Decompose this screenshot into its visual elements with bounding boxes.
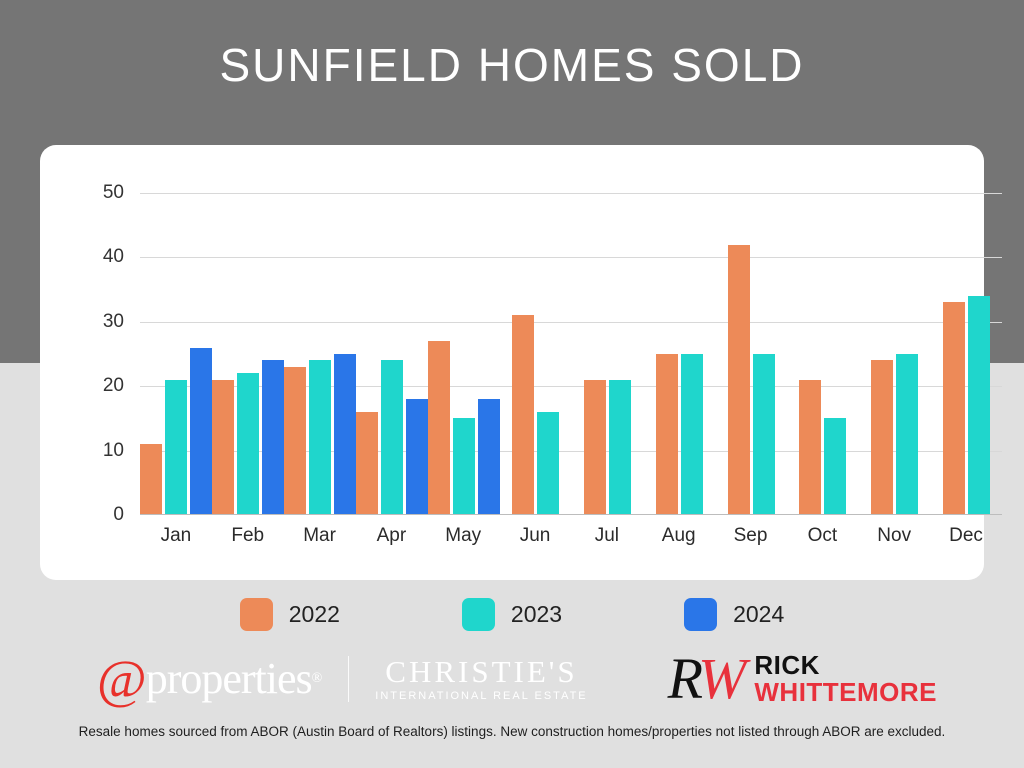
bar[interactable] [356, 412, 378, 515]
legend-item[interactable]: 2023 [462, 598, 562, 631]
infographic-page: SUNFIELD HOMES SOLD 01020304050 JanFebMa… [0, 0, 1024, 768]
bar[interactable] [537, 412, 559, 515]
x-axis-tick-label: Apr [355, 525, 427, 547]
rw-line-whittemore: WHITTEMORE [754, 679, 937, 706]
chart-legend: 202220232024 [0, 598, 1024, 631]
x-axis-tick-label: Sep [715, 525, 787, 547]
bar[interactable] [478, 399, 500, 515]
bar[interactable] [212, 380, 234, 515]
bar[interactable] [237, 373, 259, 515]
chart-card: 01020304050 JanFebMarAprMayJunJulAugSepO… [40, 145, 984, 580]
bar[interactable] [140, 444, 162, 515]
rw-monogram: RW [668, 650, 743, 708]
bar[interactable] [681, 354, 703, 515]
y-axis-tick-label: 20 [80, 375, 140, 397]
bar[interactable] [753, 354, 775, 515]
rw-line-rick: RICK [754, 652, 937, 679]
bar[interactable] [896, 354, 918, 515]
logo-divider [348, 656, 349, 702]
bar[interactable] [453, 418, 475, 515]
x-axis-tick-label: Aug [643, 525, 715, 547]
bar-group [787, 193, 859, 515]
legend-label: 2022 [289, 601, 340, 628]
legend-swatch [240, 598, 273, 631]
x-axis-tick-label: Dec [930, 525, 1002, 547]
bar-group [572, 193, 644, 515]
bar[interactable] [428, 341, 450, 515]
plot-area: 01020304050 [140, 193, 1002, 515]
rick-whittemore-wordmark: RICK WHITTEMORE [754, 652, 937, 705]
x-axis-tick-label: Feb [212, 525, 284, 547]
x-axis-tick-label: Oct [786, 525, 858, 547]
bar-group [715, 193, 787, 515]
bar-group [356, 193, 428, 515]
x-axis-tick-label: May [427, 525, 499, 547]
logo-row: @ properties ® CHRISTIE'S INTERNATIONAL … [0, 648, 1024, 710]
bar[interactable] [656, 354, 678, 515]
bar[interactable] [334, 354, 356, 515]
bar[interactable] [799, 380, 821, 515]
footnote-text: Resale homes sourced from ABOR (Austin B… [62, 723, 962, 741]
bar-group [140, 193, 212, 515]
legend-label: 2023 [511, 601, 562, 628]
x-axis-tick-label: Mar [284, 525, 356, 547]
x-axis-tick-label: Jun [499, 525, 571, 547]
x-axis-line [140, 514, 1002, 515]
x-axis-tick-label: Jan [140, 525, 212, 547]
registered-trademark-icon: ® [312, 671, 323, 687]
bar[interactable] [190, 348, 212, 515]
christies-tagline: INTERNATIONAL REAL ESTATE [375, 690, 587, 702]
bar[interactable] [309, 360, 331, 515]
bar[interactable] [512, 315, 534, 515]
y-axis-tick-label: 10 [80, 440, 140, 462]
y-axis-tick-label: 50 [80, 182, 140, 204]
bar-group [212, 193, 284, 515]
bar-group [500, 193, 572, 515]
christies-logo: CHRISTIE'S INTERNATIONAL REAL ESTATE [375, 656, 587, 703]
legend-swatch [684, 598, 717, 631]
x-axis-tick-labels: JanFebMarAprMayJunJulAugSepOctNovDec [140, 525, 1002, 547]
bar[interactable] [609, 380, 631, 515]
bar[interactable] [584, 380, 606, 515]
christies-wordmark: CHRISTIE'S [385, 656, 577, 689]
bar-group [930, 193, 1002, 515]
atproperties-wordmark: properties [146, 657, 312, 701]
page-title: SUNFIELD HOMES SOLD [0, 38, 1024, 92]
y-axis-tick-label: 0 [80, 504, 140, 526]
monogram-r: R [668, 646, 698, 711]
bar-groups [140, 193, 1002, 515]
bar-group [859, 193, 931, 515]
x-axis-tick-label: Jul [571, 525, 643, 547]
legend-swatch [462, 598, 495, 631]
monogram-w: W [698, 646, 742, 711]
bar[interactable] [262, 360, 284, 515]
bar[interactable] [728, 245, 750, 515]
bar[interactable] [406, 399, 428, 515]
y-axis-tick-label: 30 [80, 311, 140, 333]
legend-item[interactable]: 2024 [684, 598, 784, 631]
legend-label: 2024 [733, 601, 784, 628]
bar[interactable] [165, 380, 187, 515]
at-symbol-icon: @ [97, 652, 145, 706]
bar[interactable] [381, 360, 403, 515]
x-axis-tick-label: Nov [858, 525, 930, 547]
bar[interactable] [943, 302, 965, 515]
bar[interactable] [824, 418, 846, 515]
bar[interactable] [871, 360, 893, 515]
bar-group [284, 193, 356, 515]
atproperties-logo: @ properties ® [97, 652, 322, 706]
legend-item[interactable]: 2022 [240, 598, 340, 631]
bar-group [428, 193, 500, 515]
rick-whittemore-logo: RW RICK WHITTEMORE [668, 650, 937, 708]
y-axis-tick-label: 40 [80, 246, 140, 268]
bar-group [643, 193, 715, 515]
bar[interactable] [284, 367, 306, 515]
bar[interactable] [968, 296, 990, 515]
